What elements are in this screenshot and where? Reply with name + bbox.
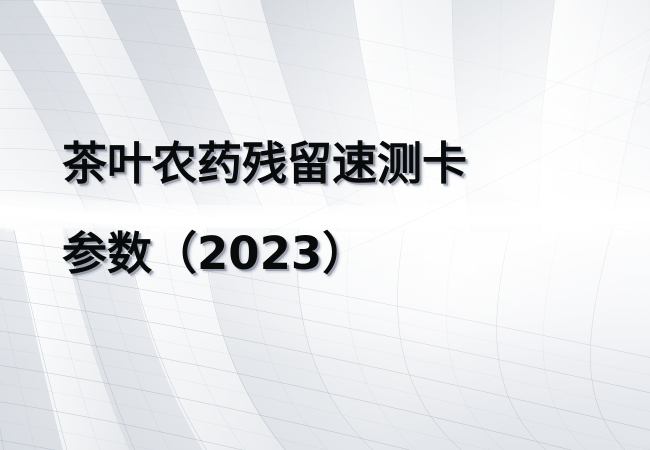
abstract-background-graphic — [0, 0, 650, 450]
title-banner: 茶叶农药残留速测卡 参数（2023） — [0, 0, 650, 450]
